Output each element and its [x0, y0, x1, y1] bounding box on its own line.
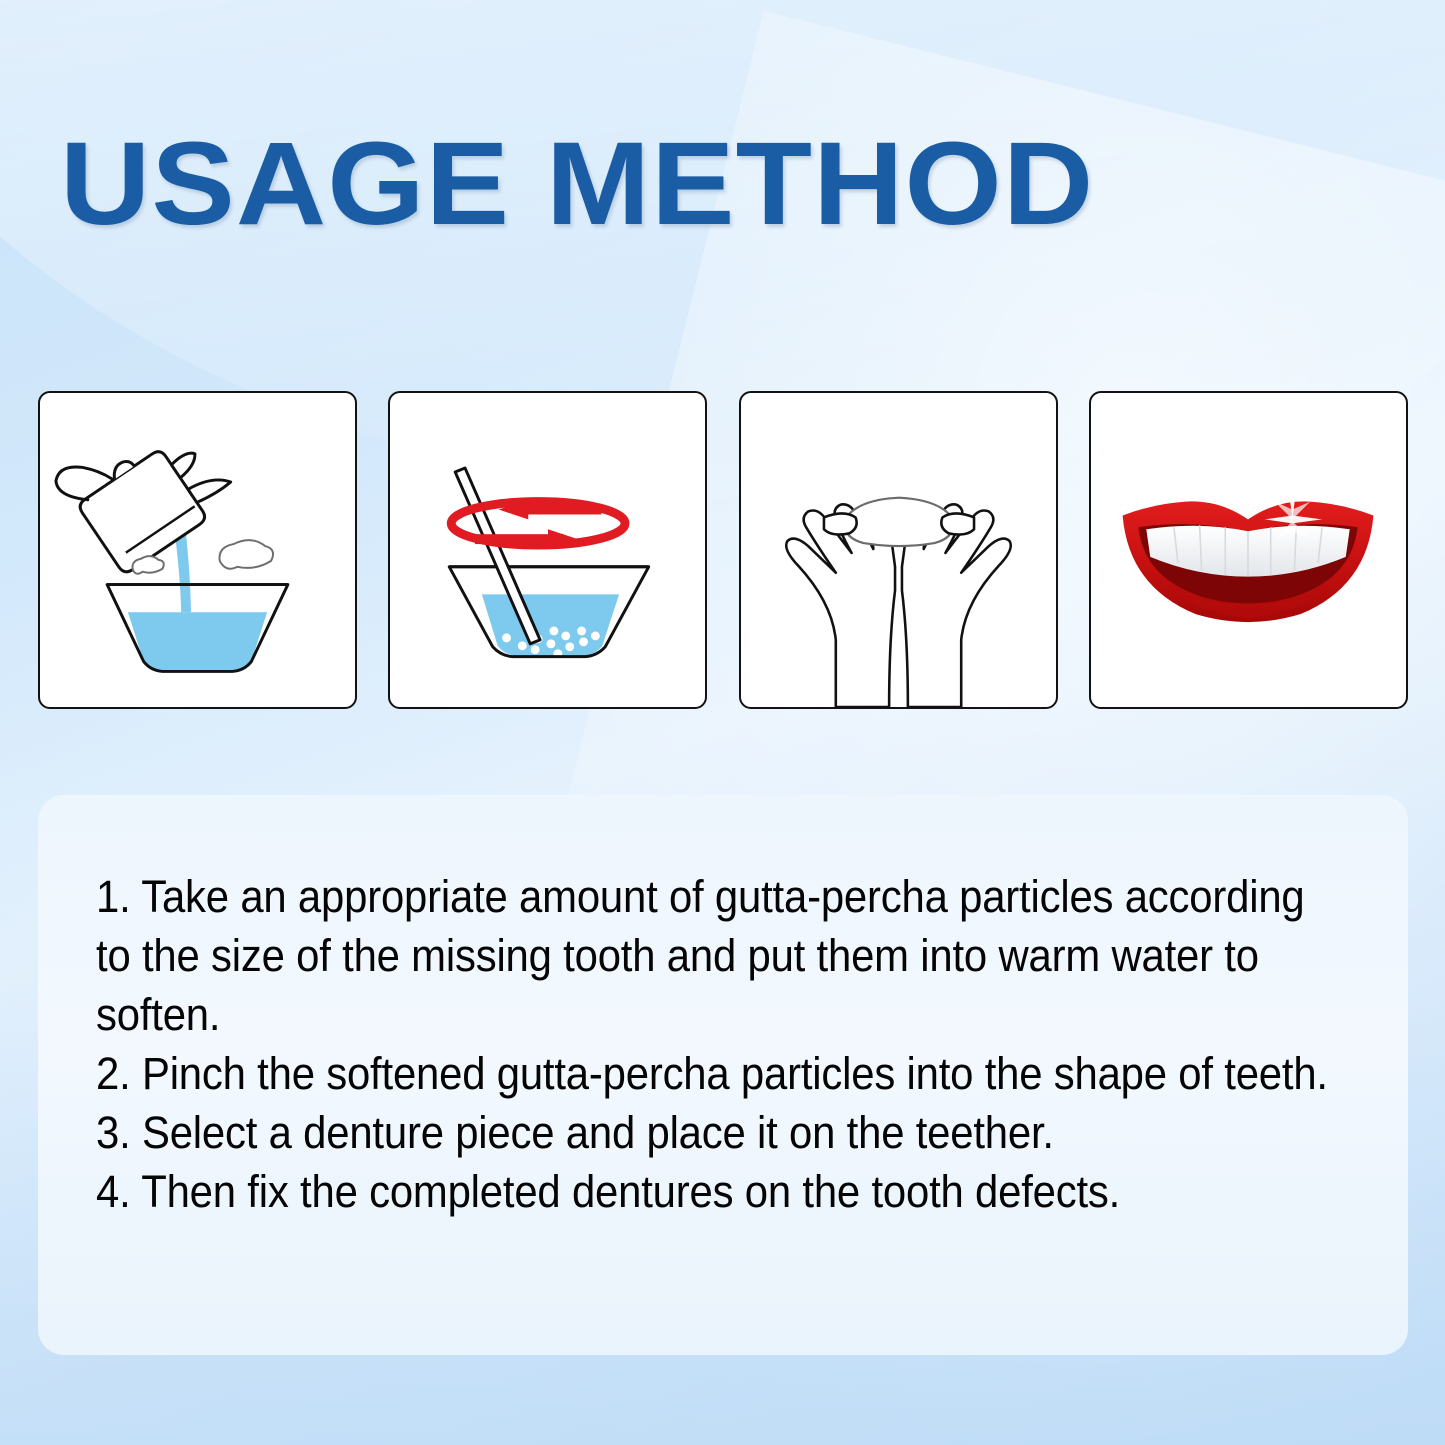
usage-method-infographic: USAGE METHOD — [0, 0, 1445, 1445]
instruction-item-3: 3. Select a denture piece and place it o… — [96, 1103, 1350, 1162]
instruction-item-1: 1. Take an appropriate amount of gutta-p… — [96, 867, 1350, 1044]
step-panel-3 — [739, 391, 1058, 709]
stirring-rod-in-bowl-icon — [390, 393, 705, 707]
instructions-list: 1. Take an appropriate amount of gutta-p… — [96, 867, 1350, 1221]
smiling-mouth-with-teeth-icon — [1091, 393, 1406, 707]
hands-shaping-denture-icon — [741, 393, 1056, 707]
step-panel-strip — [38, 391, 1408, 709]
step-panel-1 — [38, 391, 357, 709]
step-panel-4 — [1089, 391, 1408, 709]
instruction-item-2: 2. Pinch the softened gutta-percha parti… — [96, 1044, 1350, 1103]
step-panel-2 — [388, 391, 707, 709]
page-title: USAGE METHOD — [60, 126, 1445, 242]
instruction-item-4: 4. Then fix the completed dentures on th… — [96, 1162, 1350, 1221]
kettle-pouring-water-into-bowl-icon — [40, 393, 355, 707]
instructions-card: 1. Take an appropriate amount of gutta-p… — [38, 795, 1408, 1355]
